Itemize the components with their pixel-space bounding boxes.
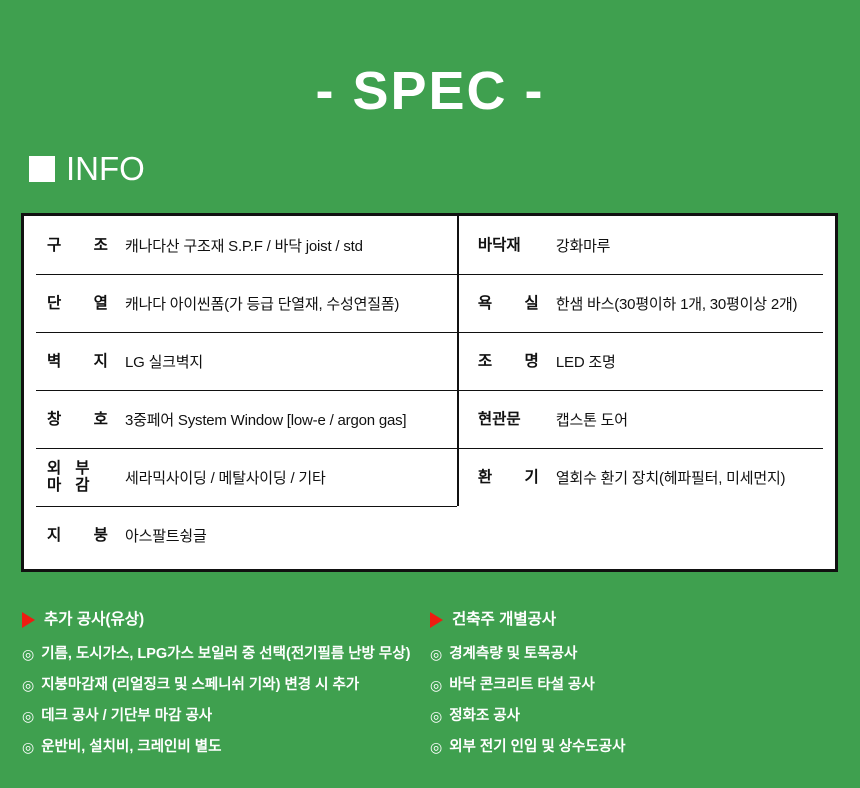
spec-cell-structure: 구 조 캐나다산 구조재 S.P.F / 바닥 joist / std [24, 216, 455, 274]
spec-key-bathroom: 욕 실 [478, 295, 556, 312]
list-item-label: 바닥 콘크리트 타설 공사 [449, 670, 595, 701]
table-row: 지 붕 아스팔트슁글 [24, 506, 835, 564]
spec-value-exterior-finish: 세라믹사이딩 / 메탈사이딩 / 기타 [125, 467, 326, 488]
notes-section: 추가 공사(유상) ◎ 기름, 도시가스, LPG가스 보일러 중 선택(전기필… [0, 608, 860, 763]
ring-bullet-icon: ◎ [430, 732, 442, 763]
spec-key-insulation: 단 열 [47, 295, 125, 312]
list-item-label: 경계측량 및 토목공사 [449, 639, 577, 670]
spec-value-wallpaper: LG 실크벽지 [125, 351, 203, 372]
spec-cell-exterior-finish: 외부 마감 세라믹사이딩 / 메탈사이딩 / 기타 [24, 448, 455, 506]
spec-value-entrance-door: 캡스톤 도어 [556, 409, 628, 430]
spec-cell-insulation: 단 열 캐나다 아이씬폼(가 등급 단열재, 수성연질폼) [24, 274, 455, 332]
table-row: 구 조 캐나다산 구조재 S.P.F / 바닥 joist / std 바닥재 … [24, 216, 835, 274]
spec-value-roof: 아스팔트슁글 [125, 525, 207, 546]
spec-cell-roof: 지 붕 아스팔트슁글 [24, 506, 455, 564]
spec-value-ventilation: 열회수 환기 장치(헤파필터, 미세먼지) [556, 467, 785, 488]
spec-key-exterior-finish: 외부 마감 [47, 460, 125, 494]
list-item-label: 외부 전기 인입 및 상수도공사 [449, 732, 625, 763]
ring-bullet-icon: ◎ [430, 701, 442, 732]
spec-value-window: 3중페어 System Window [low-e / argon gas] [125, 409, 406, 430]
spec-value-lighting: LED 조명 [556, 351, 616, 372]
table-row: 단 열 캐나다 아이씬폼(가 등급 단열재, 수성연질폼) 욕 실 한샘 바스(… [24, 274, 835, 332]
spec-table-grid: 구 조 캐나다산 구조재 S.P.F / 바닥 joist / std 바닥재 … [24, 216, 835, 569]
spec-key-lighting: 조 명 [478, 353, 556, 370]
spec-key-flooring: 바닥재 [478, 237, 556, 254]
page-title: - SPEC - [0, 60, 860, 122]
spec-key-entrance-door: 현관문 [478, 411, 556, 428]
spec-cell-ventilation: 환 기 열회수 환기 장치(헤파필터, 미세먼지) [455, 448, 835, 506]
notes-heading-label: 건축주 개별공사 [452, 608, 556, 632]
spec-cell-entrance-door: 현관문 캡스톤 도어 [455, 390, 835, 448]
spec-cell-flooring: 바닥재 강화마루 [455, 216, 835, 274]
spec-table: 구 조 캐나다산 구조재 S.P.F / 바닥 joist / std 바닥재 … [21, 213, 838, 572]
spec-value-bathroom: 한샘 바스(30평이하 1개, 30평이상 2개) [556, 293, 797, 314]
info-heading: INFO [29, 152, 145, 186]
spec-cell-window: 창 호 3중페어 System Window [low-e / argon ga… [24, 390, 455, 448]
spec-cell-bathroom: 욕 실 한샘 바스(30평이하 1개, 30평이상 2개) [455, 274, 835, 332]
spec-cell-lighting: 조 명 LED 조명 [455, 332, 835, 390]
notes-column-owner-work: 건축주 개별공사 ◎ 경계측량 및 토목공사 ◎ 바닥 콘크리트 타설 공사 ◎… [0, 608, 430, 763]
spec-cell-empty [455, 506, 835, 564]
spec-value-structure: 캐나다산 구조재 S.P.F / 바닥 joist / std [125, 235, 363, 256]
spec-key-roof: 지 붕 [47, 527, 125, 544]
spec-value-insulation: 캐나다 아이씬폼(가 등급 단열재, 수성연질폼) [125, 293, 399, 314]
info-heading-label: INFO [66, 152, 145, 186]
ring-bullet-icon: ◎ [430, 639, 442, 670]
filled-square-icon [29, 156, 55, 182]
table-row: 창 호 3중페어 System Window [low-e / argon ga… [24, 390, 835, 448]
ring-bullet-icon: ◎ [430, 670, 442, 701]
spec-key-window: 창 호 [47, 411, 125, 428]
triangle-right-icon [430, 612, 443, 628]
spec-key-structure: 구 조 [47, 237, 125, 254]
spec-value-flooring: 강화마루 [556, 235, 610, 256]
table-row: 외부 마감 세라믹사이딩 / 메탈사이딩 / 기타 환 기 열회수 환기 장치(… [24, 448, 835, 506]
table-row: 벽 지 LG 실크벽지 조 명 LED 조명 [24, 332, 835, 390]
list-item-label: 정화조 공사 [449, 701, 520, 732]
spec-cell-wallpaper: 벽 지 LG 실크벽지 [24, 332, 455, 390]
spec-key-wallpaper: 벽 지 [47, 353, 125, 370]
spec-key-ventilation: 환 기 [478, 469, 556, 486]
